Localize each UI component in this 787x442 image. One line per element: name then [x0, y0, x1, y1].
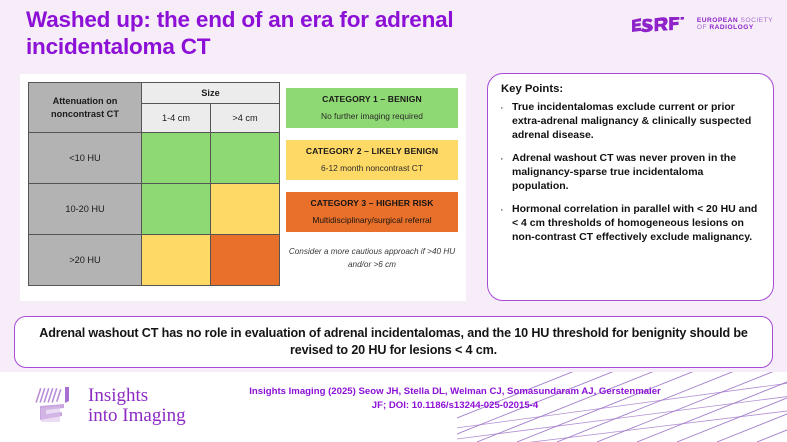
list-item: · True incidentalomas exclude current or… — [500, 101, 761, 143]
esr-line2-light: OF — [697, 24, 707, 31]
key-points-list: · True incidentalomas exclude current or… — [500, 101, 761, 245]
category-3-title: CATEGORY 3 – HIGHER RISK — [290, 198, 454, 208]
esr-logo-wordmark: EUROPEAN SOCIETY OF RADIOLOGY — [697, 18, 773, 32]
esr-logo-mark — [632, 17, 690, 33]
journal-name-line1: Insights — [88, 386, 186, 406]
table-row-label: >20 HU — [29, 235, 142, 286]
table-header-row-1: Attenuation on noncontrast CT Size — [29, 83, 280, 104]
poster-footer: Insights into Imaging Insights Imaging (… — [0, 372, 787, 442]
journal-mark-icon — [34, 384, 78, 428]
category-box-3: CATEGORY 3 – HIGHER RISK Multidisciplina… — [286, 192, 458, 232]
content-card: Attenuation on noncontrast CT Size 1-4 c… — [20, 74, 466, 301]
table-col-header-1: 1-4 cm — [142, 104, 211, 133]
table-cell-r1c2 — [211, 133, 280, 184]
key-points-panel: Key Points: · True incidentalomas exclud… — [487, 73, 774, 301]
table-cell-r2c1 — [142, 184, 211, 235]
risk-matrix-table: Attenuation on noncontrast CT Size 1-4 c… — [28, 82, 280, 286]
page-title: Washed up: the end of an era for adrenal… — [26, 6, 586, 61]
table-cell-r3c2 — [211, 235, 280, 286]
key-points-title: Key Points: — [501, 83, 761, 95]
key-point-text-3: Hormonal correlation in parallel with < … — [512, 203, 761, 245]
bullet-icon: · — [500, 152, 506, 194]
category-2-title: CATEGORY 2 – LIKELY BENIGN — [290, 146, 454, 156]
poster-root: Washed up: the end of an era for adrenal… — [0, 0, 787, 442]
table-row-label: <10 HU — [29, 133, 142, 184]
table-cell-r1c1 — [142, 133, 211, 184]
table-cell-r2c2 — [211, 184, 280, 235]
category-box-1: CATEGORY 1 – BENIGN No further imaging r… — [286, 88, 458, 128]
category-box-2: CATEGORY 2 – LIKELY BENIGN 6-12 month no… — [286, 140, 458, 180]
citation-text: Insights Imaging (2025) Seow JH, Stella … — [245, 385, 665, 413]
conclusion-text: Adrenal washout CT has no role in evalua… — [31, 325, 756, 360]
conclusion-banner: Adrenal washout CT has no role in evalua… — [14, 316, 773, 368]
bullet-icon: · — [500, 101, 506, 143]
poster-header: Washed up: the end of an era for adrenal… — [0, 0, 787, 64]
caveat-note: Consider a more cautious approach if >40… — [286, 246, 458, 271]
category-1-title: CATEGORY 1 – BENIGN — [290, 94, 454, 104]
category-legend: CATEGORY 1 – BENIGN No further imaging r… — [286, 88, 458, 271]
list-item: · Hormonal correlation in parallel with … — [500, 203, 761, 245]
table-row: >20 HU — [29, 235, 280, 286]
table-col-header-2: >4 cm — [211, 104, 280, 133]
journal-name-line2: into Imaging — [88, 406, 186, 426]
table-row: <10 HU — [29, 133, 280, 184]
category-1-subtitle: No further imaging required — [290, 111, 454, 121]
table-row-label: 10-20 HU — [29, 184, 142, 235]
journal-wordmark: Insights into Imaging — [88, 386, 186, 426]
table-corner-header: Attenuation on noncontrast CT — [29, 83, 142, 133]
bullet-icon: · — [500, 203, 506, 245]
category-2-subtitle: 6-12 month noncontrast CT — [290, 163, 454, 173]
key-point-text-2: Adrenal washout CT was never proven in t… — [512, 152, 761, 194]
esr-logo: EUROPEAN SOCIETY OF RADIOLOGY — [632, 17, 773, 33]
insights-into-imaging-logo: Insights into Imaging — [34, 384, 186, 428]
esr-line2-bold: RADIOLOGY — [709, 24, 753, 31]
table-group-header-size: Size — [142, 83, 280, 104]
category-3-subtitle: Multidisciplinary/surgical referral — [290, 215, 454, 225]
table-cell-r3c1 — [142, 235, 211, 286]
table-row: 10-20 HU — [29, 184, 280, 235]
key-point-text-1: True incidentalomas exclude current or p… — [512, 101, 761, 143]
list-item: · Adrenal washout CT was never proven in… — [500, 152, 761, 194]
